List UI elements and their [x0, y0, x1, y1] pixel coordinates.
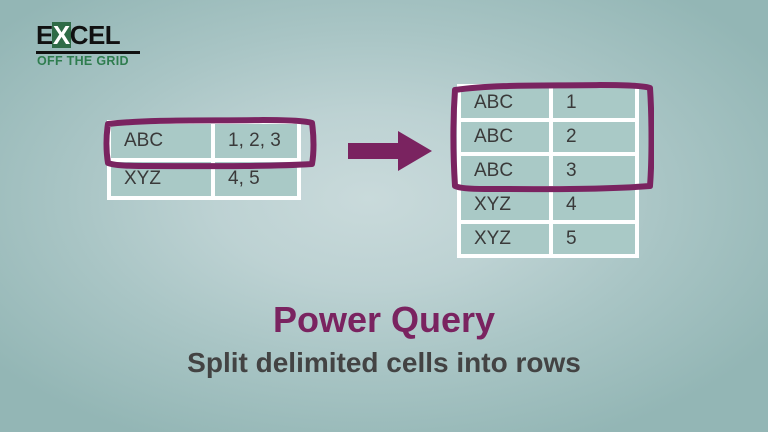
logo-letters-cel: CEL [70, 20, 121, 50]
result-cell-key: ABC [461, 88, 549, 118]
source-cell-value: 4, 5 [215, 162, 297, 196]
table-row: XYZ 4 [461, 190, 635, 220]
source-cell-key: XYZ [111, 162, 211, 196]
page-title: Power Query [0, 300, 768, 340]
result-cell-value: 4 [553, 190, 635, 220]
result-table: ABC 1 ABC 2 ABC 3 XYZ 4 XYZ 5 [461, 88, 635, 254]
page-subtitle: Split delimited cells into rows [0, 346, 768, 380]
logo-letter-e: E [36, 20, 53, 50]
result-cell-key: XYZ [461, 224, 549, 254]
table-row: ABC 2 [461, 122, 635, 152]
excel-off-the-grid-logo: EXCEL OFF THE GRID [36, 22, 146, 64]
slide-canvas: EXCEL OFF THE GRID ABC 1, 2, 3 XYZ 4, 5 … [0, 0, 768, 432]
table-row: XYZ 4, 5 [111, 162, 297, 196]
source-table: ABC 1, 2, 3 XYZ 4, 5 [111, 124, 297, 196]
table-row: ABC 1 [461, 88, 635, 118]
result-cell-value: 5 [553, 224, 635, 254]
transform-arrow-icon [346, 128, 434, 174]
caption-block: Power Query Split delimited cells into r… [0, 300, 768, 380]
result-cell-value: 1 [553, 88, 635, 118]
logo-x-box-icon: X [52, 22, 71, 48]
table-row: ABC 1, 2, 3 [111, 124, 297, 158]
source-cell-value: 1, 2, 3 [215, 124, 297, 158]
result-cell-key: ABC [461, 122, 549, 152]
result-cell-value: 3 [553, 156, 635, 186]
source-cell-key: ABC [111, 124, 211, 158]
table-row: XYZ 5 [461, 224, 635, 254]
logo-tagline: OFF THE GRID [37, 55, 129, 68]
logo-wordmark: EXCEL [36, 22, 120, 48]
result-cell-value: 2 [553, 122, 635, 152]
table-row: ABC 3 [461, 156, 635, 186]
result-cell-key: XYZ [461, 190, 549, 220]
result-cell-key: ABC [461, 156, 549, 186]
